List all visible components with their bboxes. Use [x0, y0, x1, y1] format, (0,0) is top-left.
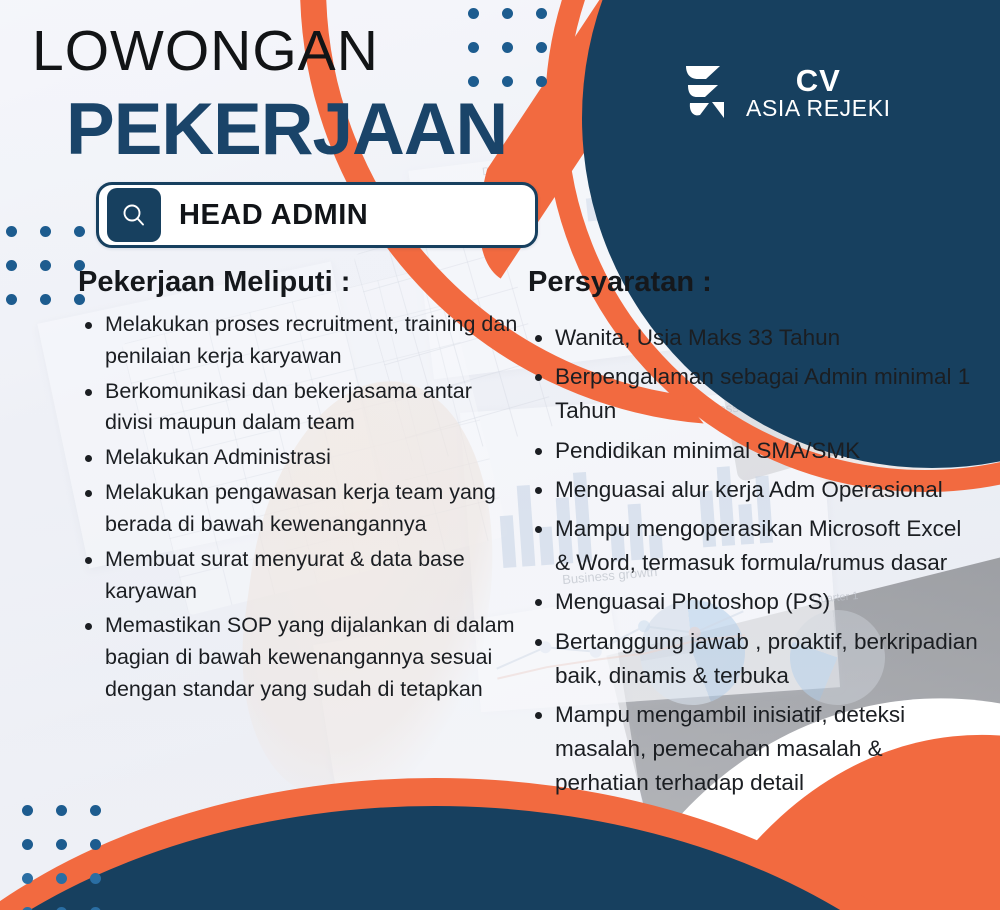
eyebrow-title: LOWONGAN — [32, 18, 379, 84]
list-item: Berpengalaman sebagai Admin minimal 1 Ta… — [528, 360, 980, 428]
list-item: Menguasai Photoshop (PS) — [528, 585, 980, 619]
list-item: Bertanggung jawab , proaktif, berkripadi… — [528, 625, 980, 693]
brand-prefix: CV — [746, 65, 891, 97]
company-logo-mark-icon — [676, 62, 728, 124]
list-item: Melakukan pengawasan kerja team yang ber… — [78, 477, 520, 541]
duties-heading: Pekerjaan Meliputi : — [78, 266, 520, 299]
list-item: Mampu mengoperasikan Microsoft Excel & W… — [528, 512, 980, 580]
list-item: Berkomunikasi dan bekerjasama antar divi… — [78, 376, 520, 440]
duties-list: Melakukan proses recruitment, training d… — [78, 309, 520, 706]
brand-logo: CV ASIA REJEKI — [676, 62, 891, 124]
position-search-bar[interactable]: HEAD ADMIN — [96, 182, 538, 248]
poster-content: LOWONGAN PEKERJAAN HEAD ADMIN CV ASIA RE… — [0, 0, 1000, 910]
requirements-heading: Persyaratan : — [528, 266, 980, 299]
list-item: Memastikan SOP yang dijalankan di dalam … — [78, 610, 520, 705]
list-item: Menguasai alur kerja Adm Operasional — [528, 473, 980, 507]
list-item: Mampu mengambil inisiatif, deteksi masal… — [528, 698, 980, 801]
page-title: PEKERJAAN — [66, 88, 507, 171]
list-item: Melakukan proses recruitment, training d… — [78, 309, 520, 373]
list-item: Wanita, Usia Maks 33 Tahun — [528, 321, 980, 355]
list-item: Pendidikan minimal SMA/SMK — [528, 434, 980, 468]
requirements-list: Wanita, Usia Maks 33 Tahun Berpengalaman… — [528, 321, 980, 800]
list-item: Melakukan Administrasi — [78, 442, 520, 474]
duties-column: Pekerjaan Meliputi : Melakukan proses re… — [78, 266, 520, 709]
brand-name: ASIA REJEKI — [746, 97, 891, 120]
brand-text: CV ASIA REJEKI — [746, 65, 891, 120]
position-title: HEAD ADMIN — [179, 199, 368, 232]
search-icon — [107, 188, 161, 242]
requirements-column: Persyaratan : Wanita, Usia Maks 33 Tahun… — [528, 266, 980, 805]
list-item: Membuat surat menyurat & data base karya… — [78, 544, 520, 608]
job-vacancy-poster: Data summary ANNUAL SUMMARY Business inc… — [0, 0, 1000, 910]
